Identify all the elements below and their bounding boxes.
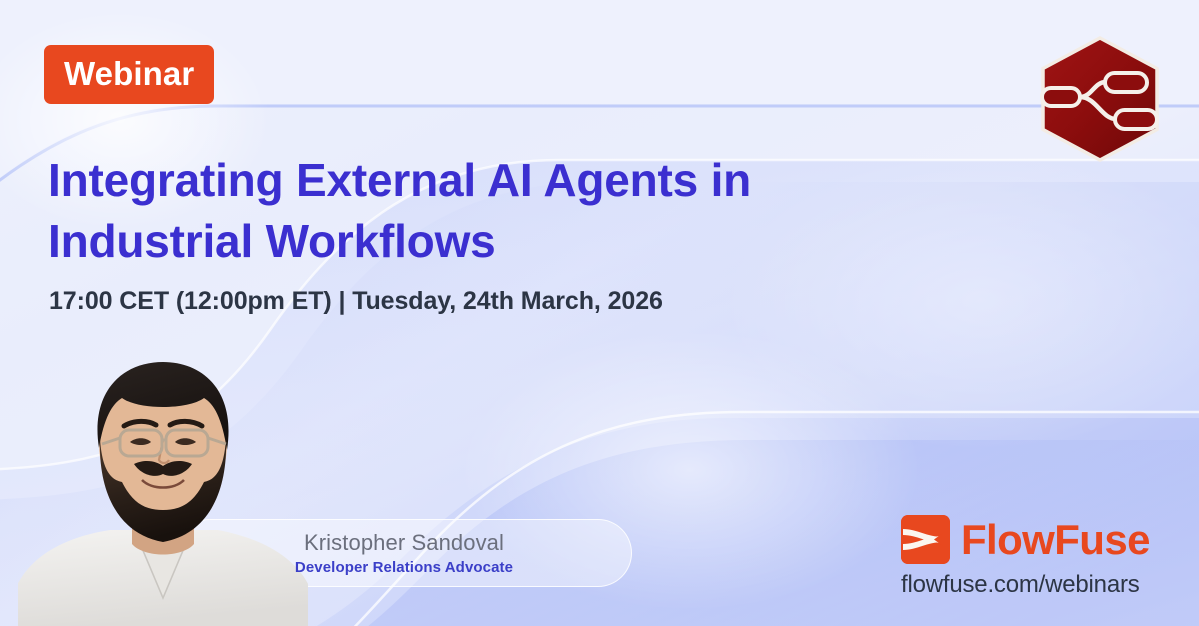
flowfuse-logo-icon [901, 515, 950, 564]
page-title: Integrating External AI Agents in Indust… [48, 150, 808, 272]
title-line-1: Integrating External AI Agents in [48, 150, 808, 211]
flowfuse-wordmark: FlowFuse [961, 519, 1150, 561]
flowfuse-logo-row: FlowFuse [901, 515, 1150, 564]
webinar-promo-banner: Webinar Integrating External AI Agents i… [0, 0, 1199, 626]
title-line-2: Industrial Workflows [48, 211, 808, 272]
speaker-info: Kristopher Sandoval Developer Relations … [176, 519, 632, 587]
node-red-hexagon-icon [1036, 35, 1164, 163]
speaker-name: Kristopher Sandoval [304, 530, 504, 556]
webinar-badge: Webinar [44, 45, 214, 104]
flowfuse-url: flowfuse.com/webinars [901, 571, 1150, 599]
flowfuse-branding: FlowFuse flowfuse.com/webinars [901, 515, 1150, 599]
event-datetime: 17:00 CET (12:00pm ET) | Tuesday, 24th M… [49, 287, 663, 316]
speaker-role: Developer Relations Advocate [295, 559, 513, 576]
